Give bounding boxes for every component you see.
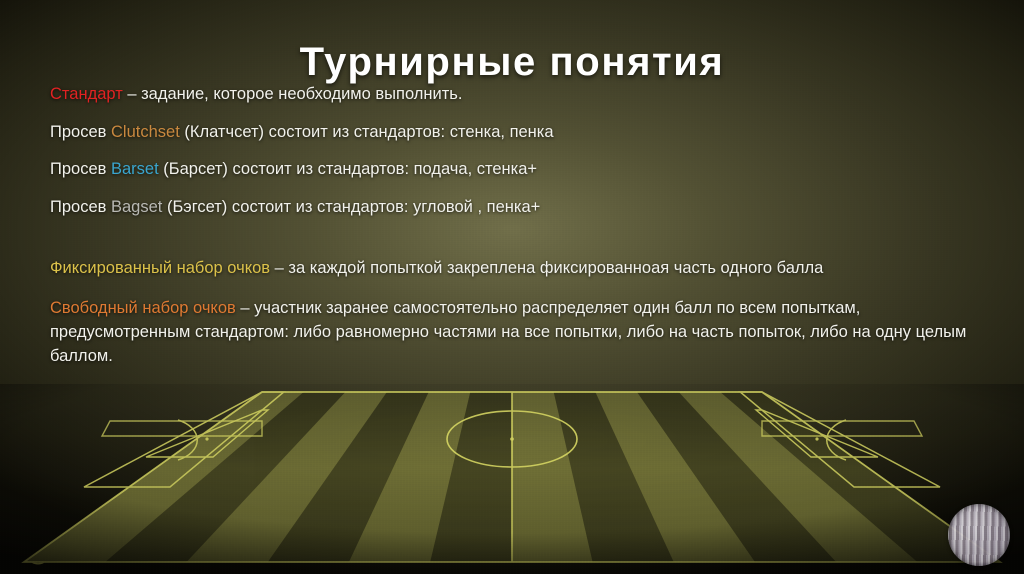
definition-line-barset: Просев Barset (Барсет) состоит из станда… — [50, 161, 980, 178]
definition-text-clutchset: (Клатчсет) состоит из стандартов: стенка… — [180, 123, 554, 141]
definition-text-standart: – задание, которое необходимо выполнить. — [123, 85, 463, 103]
slide-canvas: Турнирные понятия Стандарт – задание, ко… — [0, 0, 1024, 574]
slide-body: Стандарт – задание, которое необходимо в… — [50, 86, 980, 369]
definition-line-bagset: Просев Bagset (Бэгсет) состоит из станда… — [50, 199, 980, 216]
definition-paragraph-free-points: Свободный набор очков – участник заранее… — [50, 297, 980, 369]
prefix-bagset: Просев — [50, 198, 111, 216]
keyword-clutchset: Clutchset — [111, 123, 180, 141]
keyword-standart: Стандарт — [50, 85, 123, 103]
spacer-two — [50, 281, 980, 297]
watermark-emblem-icon — [948, 504, 1010, 566]
definition-text-barset: (Барсет) состоит из стандартов: подача, … — [159, 160, 537, 178]
spacer-one — [50, 236, 980, 257]
page-title: Турнирные понятия — [0, 41, 1024, 83]
definition-line-standart: Стандарт – задание, которое необходимо в… — [50, 86, 980, 103]
keyword-fixed-points: Фиксированный набор очков — [50, 259, 270, 277]
soccer-field-svg — [0, 384, 1024, 574]
prefix-clutchset: Просев — [50, 123, 111, 141]
soccer-field-graphic — [0, 384, 1024, 574]
keyword-free-points: Свободный набор очков — [50, 299, 236, 317]
keyword-barset: Barset — [111, 160, 159, 178]
prefix-barset: Просев — [50, 160, 111, 178]
keyword-bagset: Bagset — [111, 198, 162, 216]
definition-paragraph-fixed-points: Фиксированный набор очков – за каждой по… — [50, 257, 980, 281]
definition-text-bagset: (Бэгсет) состоит из стандартов: угловой … — [162, 198, 540, 216]
definition-line-clutchset: Просев Clutchset (Клатчсет) состоит из с… — [50, 124, 980, 141]
definition-text-fixed-points: – за каждой попыткой закреплена фиксиров… — [270, 259, 823, 277]
